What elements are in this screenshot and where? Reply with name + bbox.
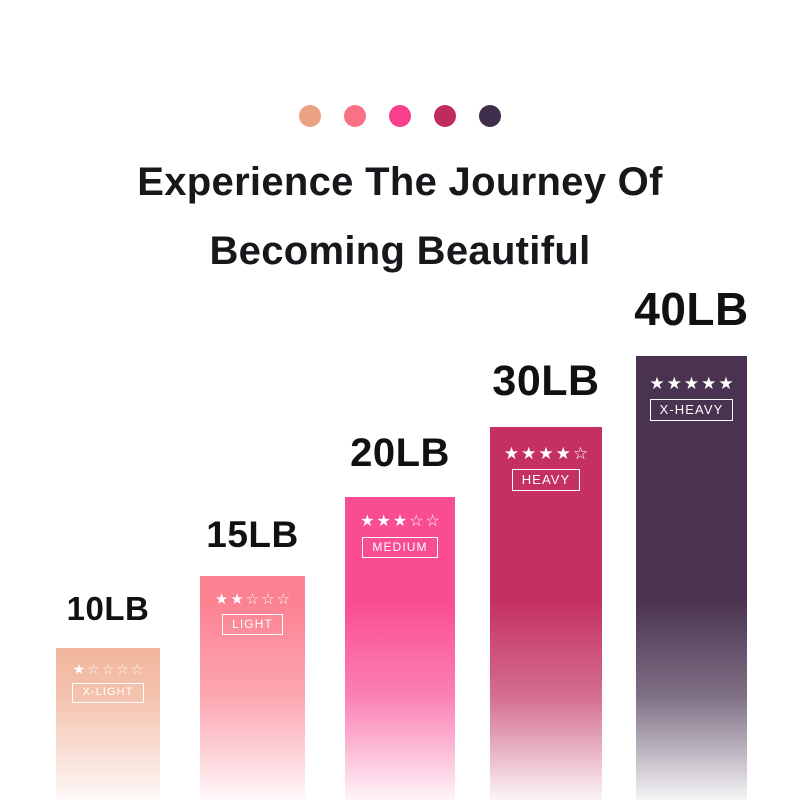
star-empty-icon: ☆	[246, 592, 259, 607]
bar-30lb-level-label: HEAVY	[512, 469, 581, 491]
star-empty-icon: ☆	[131, 662, 144, 676]
star-empty-icon: ☆	[573, 445, 588, 462]
bar-10lb-badge: ★☆☆☆☆X-LIGHT	[56, 662, 160, 703]
star-filled-icon: ★	[649, 375, 664, 392]
star-empty-icon: ☆	[102, 662, 115, 676]
bar-15lb-weight-label: 15LB	[160, 514, 345, 556]
star-filled-icon: ★	[556, 445, 571, 462]
bar-30lb[interactable]: 30LB★★★★☆HEAVY	[490, 427, 602, 800]
bar-10lb-level-label: X-LIGHT	[72, 683, 143, 703]
bar-20lb-level-label: MEDIUM	[362, 537, 437, 558]
bar-40lb[interactable]: 40LB★★★★★X-HEAVY	[636, 356, 747, 800]
bar-10lb[interactable]: 10LB★☆☆☆☆X-LIGHT	[56, 648, 160, 800]
star-filled-icon: ★	[215, 592, 228, 607]
star-empty-icon: ☆	[426, 514, 440, 530]
bar-15lb-badge: ★★☆☆☆LIGHT	[200, 592, 305, 635]
star-filled-icon: ★	[701, 375, 716, 392]
bar-40lb-badge: ★★★★★X-HEAVY	[636, 375, 747, 421]
product-infographic: Experience The Journey Of Becoming Beaut…	[0, 0, 800, 800]
bar-15lb-level-label: LIGHT	[222, 614, 283, 635]
bar-15lb-star-rating: ★★☆☆☆	[215, 592, 290, 607]
bar-30lb-weight-label: 30LB	[450, 357, 642, 406]
bar-20lb-star-rating: ★★★☆☆	[360, 514, 440, 530]
star-empty-icon: ☆	[409, 514, 423, 530]
star-filled-icon: ★	[504, 445, 519, 462]
star-empty-icon: ☆	[87, 662, 100, 676]
star-filled-icon: ★	[230, 592, 243, 607]
bar-10lb-weight-label: 10LB	[16, 590, 200, 628]
star-empty-icon: ☆	[277, 592, 290, 607]
star-filled-icon: ★	[376, 514, 390, 530]
star-filled-icon: ★	[538, 445, 553, 462]
star-filled-icon: ★	[667, 375, 682, 392]
bar-20lb-weight-label: 20LB	[305, 431, 495, 476]
star-empty-icon: ☆	[116, 662, 129, 676]
star-empty-icon: ☆	[261, 592, 274, 607]
bar-40lb-star-rating: ★★★★★	[649, 375, 733, 392]
bar-40lb-level-label: X-HEAVY	[650, 399, 734, 421]
star-filled-icon: ★	[684, 375, 699, 392]
bar-40lb-weight-label: 40LB	[596, 282, 787, 336]
star-filled-icon: ★	[360, 514, 374, 530]
star-filled-icon: ★	[521, 445, 536, 462]
bar-20lb-badge: ★★★☆☆MEDIUM	[345, 514, 455, 558]
star-filled-icon: ★	[73, 662, 86, 676]
star-filled-icon: ★	[718, 375, 733, 392]
bar-30lb-badge: ★★★★☆HEAVY	[490, 445, 602, 491]
bar-15lb[interactable]: 15LB★★☆☆☆LIGHT	[200, 576, 305, 800]
star-filled-icon: ★	[393, 514, 407, 530]
bar-10lb-star-rating: ★☆☆☆☆	[73, 662, 144, 676]
resistance-band-bar-chart: 10LB★☆☆☆☆X-LIGHT15LB★★☆☆☆LIGHT20LB★★★☆☆M…	[0, 0, 800, 800]
bar-20lb[interactable]: 20LB★★★☆☆MEDIUM	[345, 497, 455, 800]
bar-30lb-star-rating: ★★★★☆	[504, 445, 588, 462]
bar-40lb-fill	[636, 356, 747, 800]
